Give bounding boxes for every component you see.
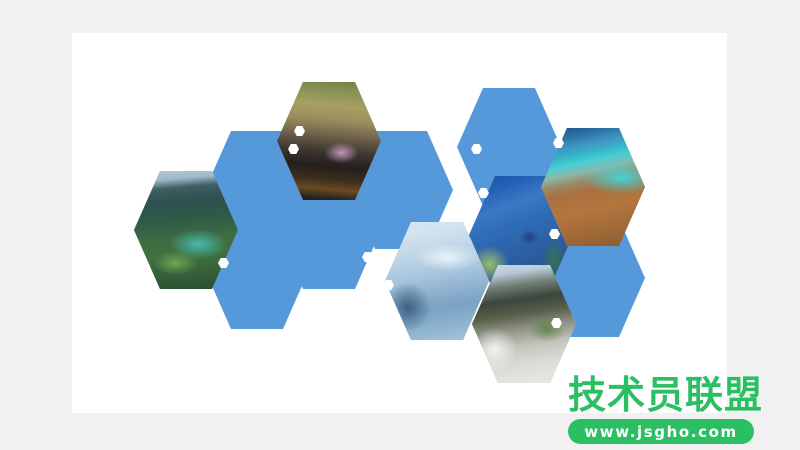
watermark-url-text: www.jsgho.com: [584, 423, 737, 441]
watermark-logo: 技术员联盟 www.jsgho.com: [568, 374, 773, 446]
screen: 技术员联盟 www.jsgho.com: [0, 0, 800, 450]
watermark-url-pill: www.jsgho.com: [568, 419, 754, 444]
hex-connector-dot: [199, 290, 210, 300]
watermark-brand-text: 技术员联盟: [568, 374, 773, 416]
hexagon-collage: [72, 33, 727, 413]
slide-canvas: [72, 33, 727, 413]
